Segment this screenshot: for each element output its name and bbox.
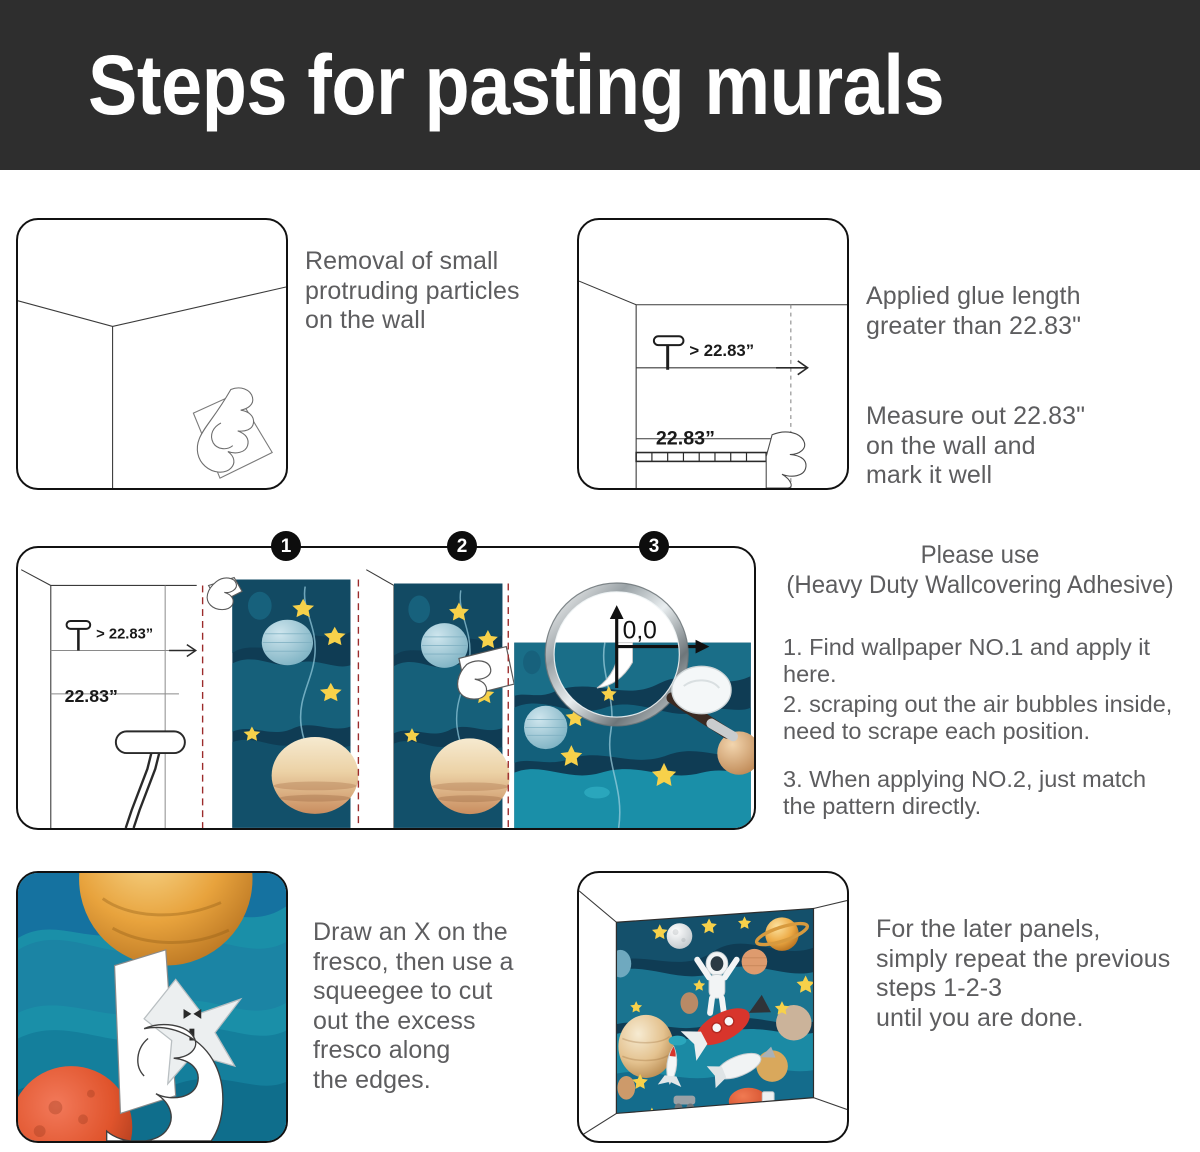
step-badge-2: 2 (447, 531, 477, 561)
page-title: Steps for pasting murals (88, 43, 944, 127)
panel2-caption-top: Applied glue length greater than 22.83" (866, 282, 1166, 341)
instruction-item-1: 1. Find wallpaper NO.1 and apply it here… (783, 634, 1183, 689)
instructions-block: Please use (Heavy Duty Wallcovering Adhe… (770, 540, 1190, 600)
panel2-caption-bottom: Measure out 22.83" on the wall and mark … (866, 402, 1166, 491)
step-badge-3: 3 (639, 531, 669, 561)
panel-prepare-wall (16, 218, 288, 490)
panel-apply-steps: > 22.83” 22.83” (16, 546, 756, 830)
origin-coordinate-label: 0,0 (623, 618, 657, 645)
panel-finished-mural (577, 871, 849, 1143)
panel-cut-excess (16, 871, 288, 1143)
panel1-caption: Removal of small protruding particles on… (305, 247, 555, 336)
apply-steps-illustration: > 22.83” 22.83” (18, 548, 754, 828)
panel-measure-glue: > 22.83” 22.83” (577, 218, 849, 490)
finished-mural-illustration (579, 873, 847, 1141)
instruction-item-2: 2. scraping out the air bubbles inside, … (783, 691, 1183, 746)
instruction-item-3: 3. When applying NO.2, just match the pa… (783, 766, 1183, 821)
svg-text:> 22.83”: > 22.83” (96, 627, 153, 643)
svg-text:22.83”: 22.83” (65, 686, 118, 706)
step-badge-1: 1 (271, 531, 301, 561)
header-bar: Steps for pasting murals (0, 0, 1200, 170)
measure-glue-illustration: > 22.83” 22.83” (579, 220, 847, 488)
cut-excess-illustration (18, 873, 286, 1141)
instructions-heading: Please use (Heavy Duty Wallcovering Adhe… (778, 540, 1181, 600)
glue-length-label: > 22.83” (689, 341, 754, 360)
measure-length-label: 22.83” (656, 428, 715, 450)
wall-corner-illustration (18, 220, 286, 488)
instruction-sheet: Steps for pasting murals Removal of smal… (0, 0, 1200, 1152)
panel4-caption: Draw an X on the fresco, then use a sque… (313, 918, 573, 1095)
panel5-caption: For the later panels, simply repeat the … (876, 915, 1200, 1033)
